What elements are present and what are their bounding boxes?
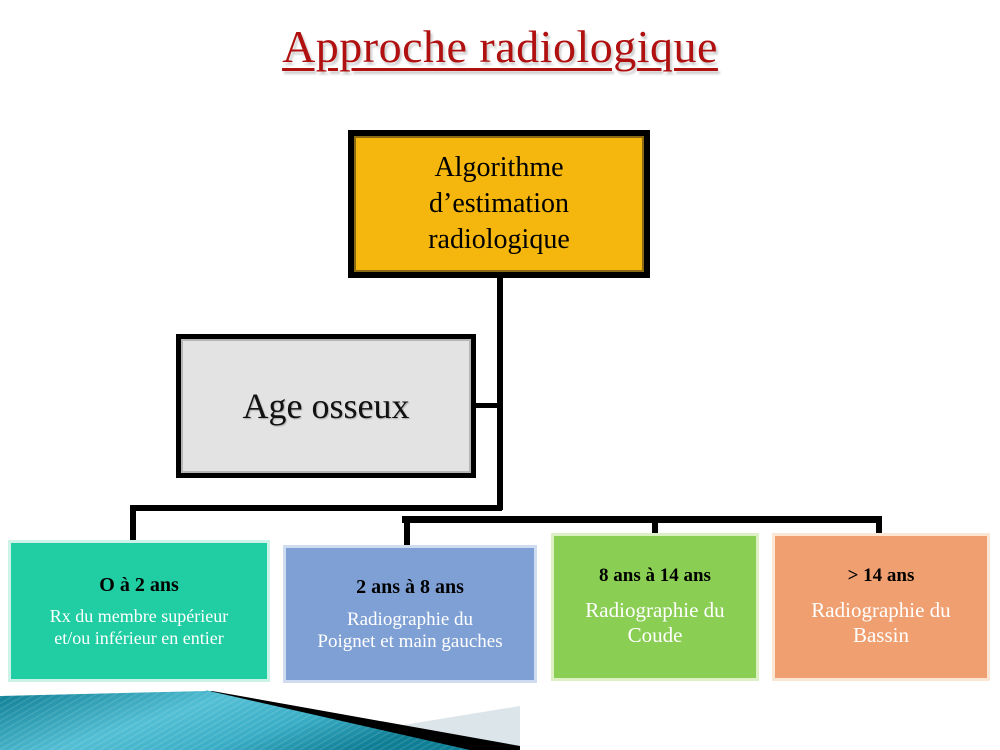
node-root-line-3: radiologique: [428, 222, 570, 258]
connector-drop-leaf-4: [876, 516, 882, 534]
leaf-3-body-line-2: Coude: [585, 623, 724, 649]
connector-bar-left: [130, 505, 502, 511]
leaf-1-body: Rx du membre supérieur et/ou inférieur e…: [50, 606, 228, 648]
leaf-1-header: O à 2 ans: [99, 573, 178, 597]
node-leaf-0-a-2-ans[interactable]: O à 2 ans Rx du membre supérieur et/ou i…: [8, 540, 270, 682]
node-age-osseux-label: Age osseux: [243, 385, 410, 427]
node-algorithme-destimation-radiologique[interactable]: Algorithme d’estimation radiologique: [348, 130, 650, 278]
node-root-line-2: d’estimation: [429, 186, 569, 222]
connector-drop-leaf-2: [404, 516, 410, 546]
node-leaf-plus-de-14-ans[interactable]: > 14 ans Radiographie du Bassin: [772, 533, 990, 681]
page-title: Approche radiologique: [0, 22, 1000, 73]
connector-bar-right: [402, 516, 882, 523]
leaf-4-body-line-2: Bassin: [811, 623, 950, 649]
connector-drop-leaf-3: [652, 516, 658, 534]
leaf-2-header: 2 ans à 8 ans: [356, 575, 464, 599]
leaf-1-body-line-1: Rx du membre supérieur: [50, 606, 228, 627]
leaf-4-header: > 14 ans: [848, 565, 915, 588]
connector-drop-leaf-1: [130, 505, 136, 541]
leaf-2-body: Radiographie du Poignet et main gauches: [317, 609, 502, 654]
connector-trunk-vertical: [497, 278, 503, 510]
leaf-3-body-line-1: Radiographie du: [585, 598, 724, 624]
node-age-osseux[interactable]: Age osseux: [176, 334, 476, 478]
leaf-3-body: Radiographie du Coude: [585, 598, 724, 649]
node-leaf-8-ans-a-14-ans[interactable]: 8 ans à 14 ans Radiographie du Coude: [551, 533, 759, 681]
node-leaf-2-ans-a-8-ans[interactable]: 2 ans à 8 ans Radiographie du Poignet et…: [283, 545, 537, 683]
leaf-3-header: 8 ans à 14 ans: [599, 565, 711, 588]
node-root-line-1: Algorithme: [434, 150, 563, 186]
leaf-2-body-line-1: Radiographie du: [317, 609, 502, 631]
leaf-2-body-line-2: Poignet et main gauches: [317, 631, 502, 653]
leaf-4-body: Radiographie du Bassin: [811, 598, 950, 649]
connector-age-osseux-stub: [473, 403, 501, 408]
slide-canvas: Approche radiologique Algorithme d’estim…: [0, 0, 1000, 750]
leaf-4-body-line-1: Radiographie du: [811, 598, 950, 624]
leaf-1-body-line-2: et/ou inférieur en entier: [50, 628, 228, 649]
